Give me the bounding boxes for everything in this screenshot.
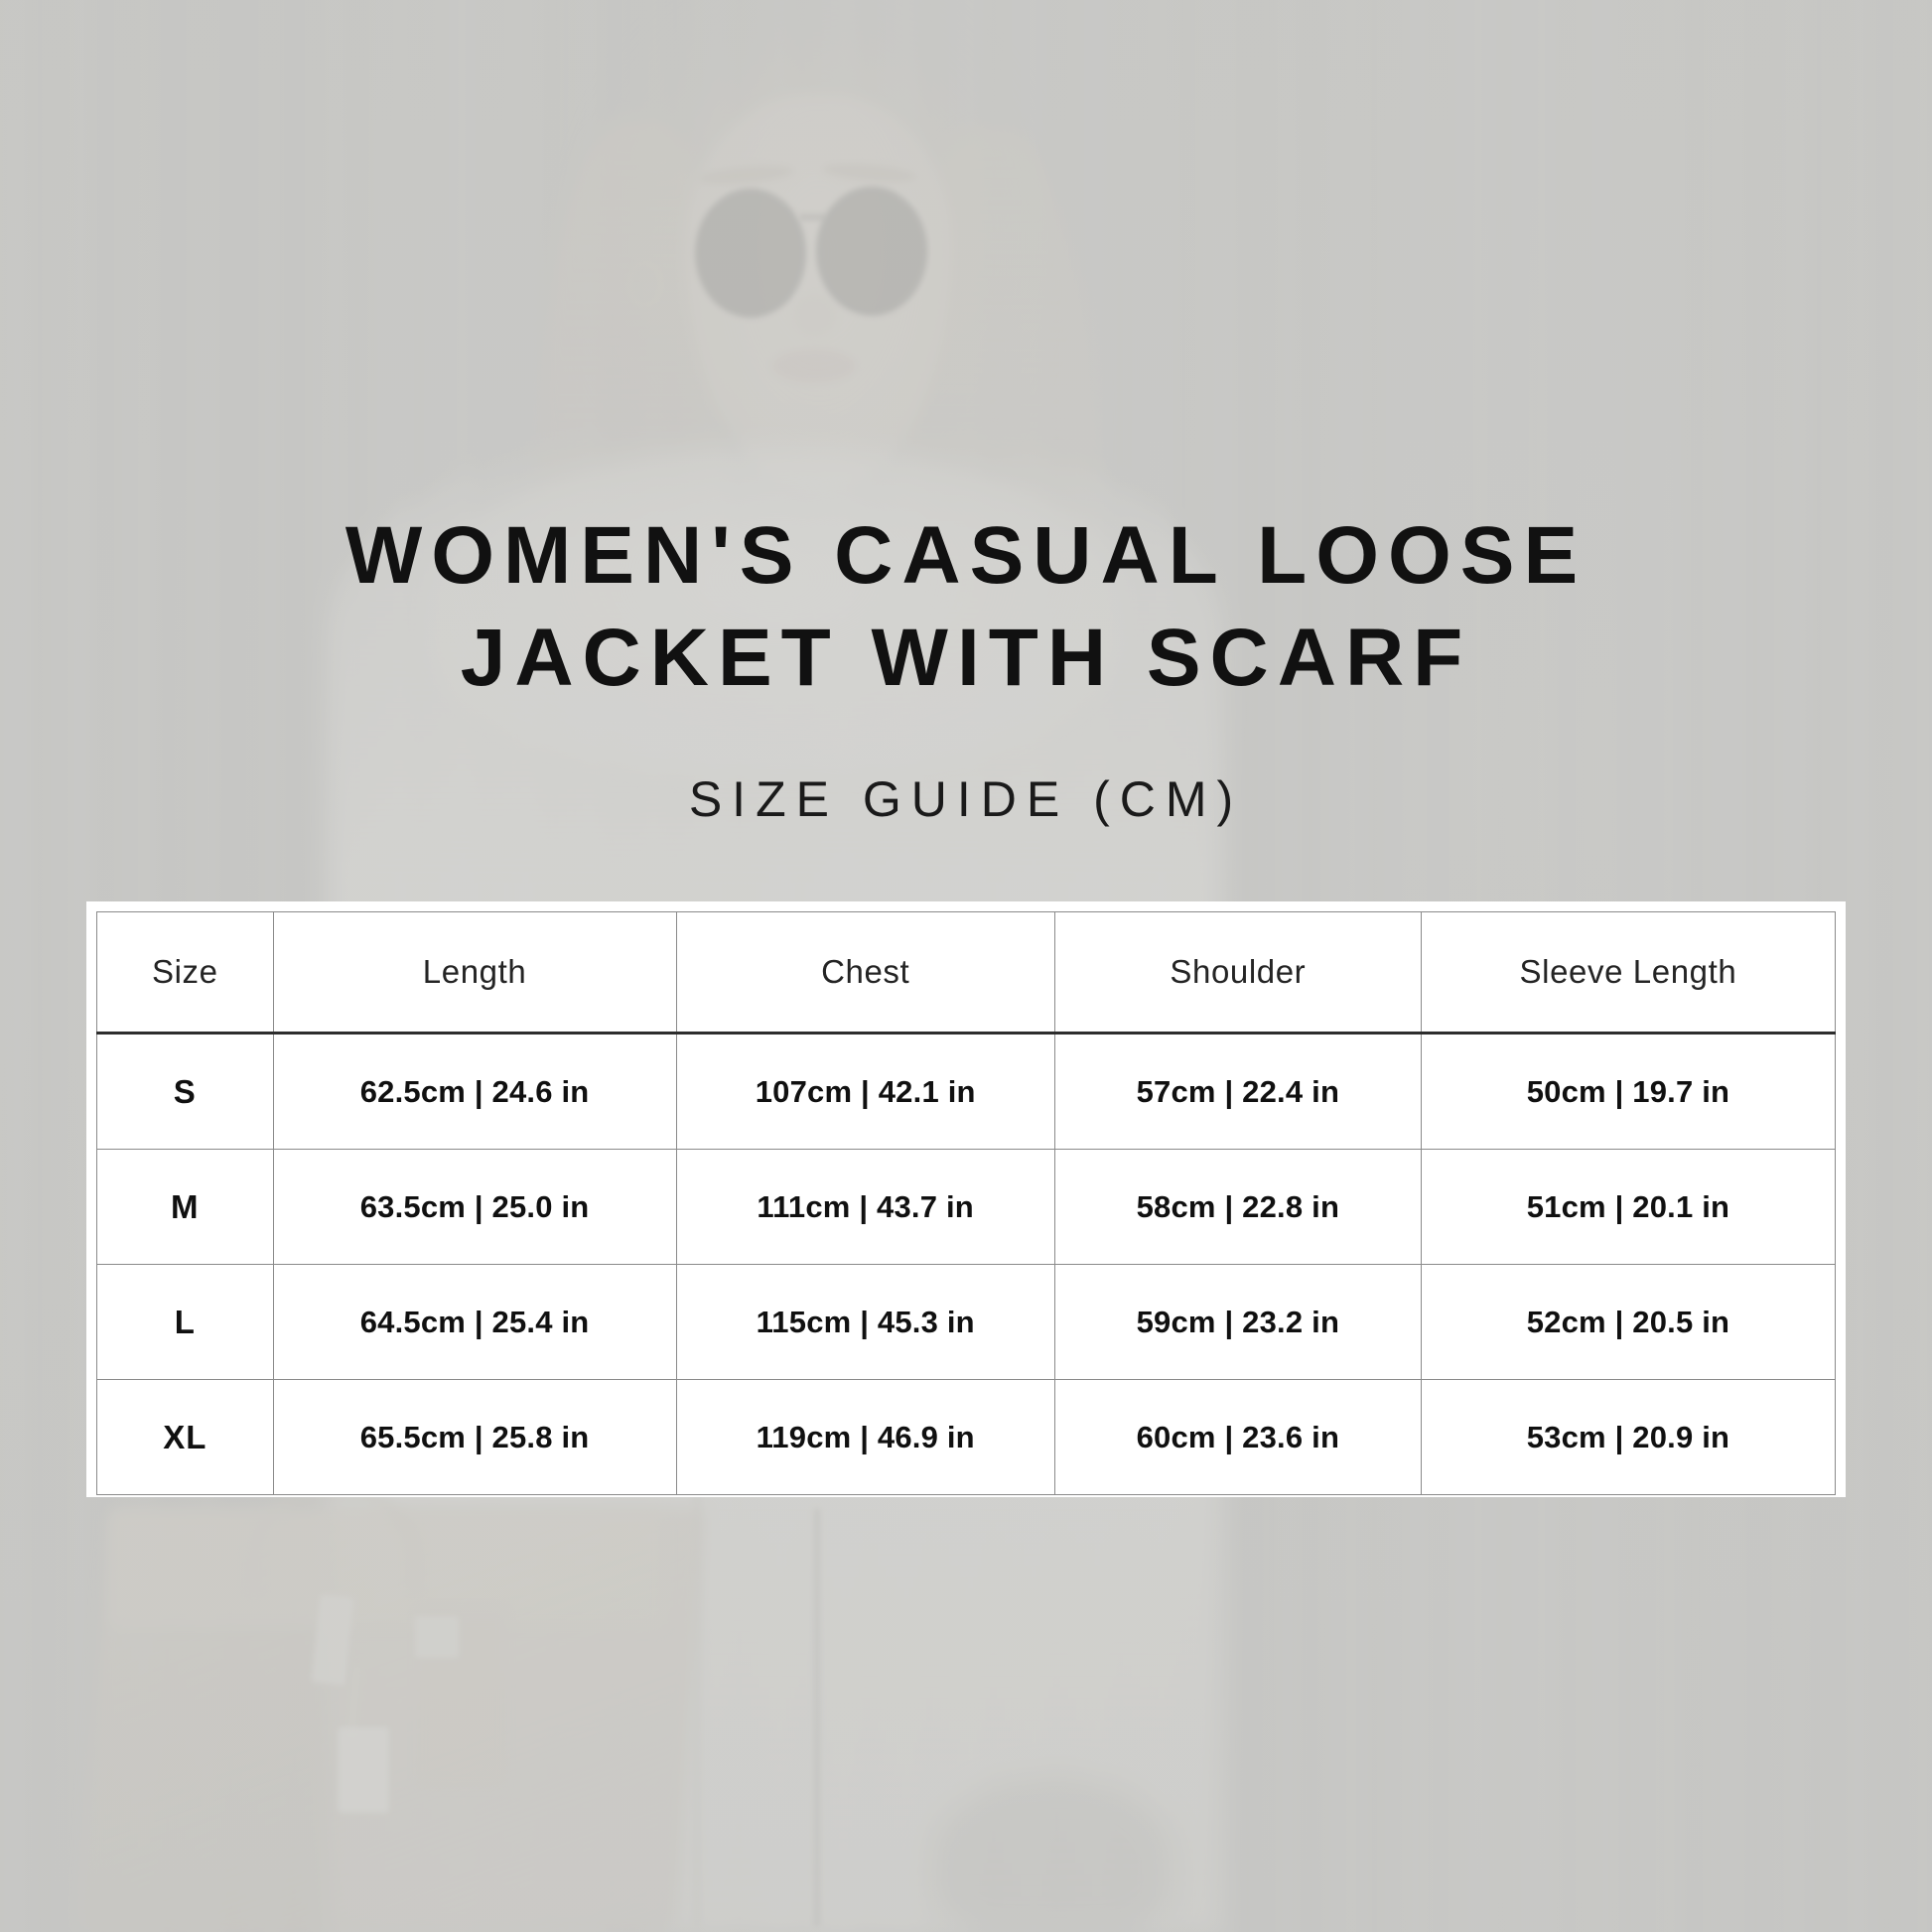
cell-shoulder-l: 59cm | 23.2 in [1054, 1265, 1421, 1380]
title-line-2: JACKET WITH SCARF [0, 607, 1932, 709]
size-table-body: S 62.5cm | 24.6 in 107cm | 42.1 in 57cm … [97, 1034, 1836, 1495]
table-row: M 63.5cm | 25.0 in 111cm | 43.7 in 58cm … [97, 1150, 1836, 1265]
cell-chest-m: 111cm | 43.7 in [676, 1150, 1054, 1265]
cell-chest-xl: 119cm | 46.9 in [676, 1380, 1054, 1495]
cell-chest-s: 107cm | 42.1 in [676, 1034, 1054, 1150]
poster-content: WOMEN'S CASUAL LOOSE JACKET WITH SCARF S… [0, 0, 1932, 1932]
size-table: Size Length Chest Shoulder Sleeve Length… [96, 911, 1836, 1495]
table-row: S 62.5cm | 24.6 in 107cm | 42.1 in 57cm … [97, 1034, 1836, 1150]
cell-chest-l: 115cm | 45.3 in [676, 1265, 1054, 1380]
column-header-sleeve: Sleeve Length [1421, 912, 1835, 1034]
size-table-head: Size Length Chest Shoulder Sleeve Length [97, 912, 1836, 1034]
cell-length-xl: 65.5cm | 25.8 in [273, 1380, 676, 1495]
column-header-length: Length [273, 912, 676, 1034]
column-header-chest: Chest [676, 912, 1054, 1034]
cell-length-m: 63.5cm | 25.0 in [273, 1150, 676, 1265]
cell-length-l: 64.5cm | 25.4 in [273, 1265, 676, 1380]
title-line-1: WOMEN'S CASUAL LOOSE [0, 504, 1932, 607]
cell-shoulder-m: 58cm | 22.8 in [1054, 1150, 1421, 1265]
page-title: WOMEN'S CASUAL LOOSE JACKET WITH SCARF [0, 504, 1932, 709]
cell-sleeve-s: 50cm | 19.7 in [1421, 1034, 1835, 1150]
cell-size-l: L [97, 1265, 274, 1380]
size-guide-poster: WOMEN'S CASUAL LOOSE JACKET WITH SCARF S… [0, 0, 1932, 1932]
cell-size-xl: XL [97, 1380, 274, 1495]
cell-sleeve-m: 51cm | 20.1 in [1421, 1150, 1835, 1265]
size-table-panel: Size Length Chest Shoulder Sleeve Length… [86, 901, 1846, 1497]
cell-sleeve-xl: 53cm | 20.9 in [1421, 1380, 1835, 1495]
table-row: L 64.5cm | 25.4 in 115cm | 45.3 in 59cm … [97, 1265, 1836, 1380]
table-header-row: Size Length Chest Shoulder Sleeve Length [97, 912, 1836, 1034]
column-header-shoulder: Shoulder [1054, 912, 1421, 1034]
cell-size-s: S [97, 1034, 274, 1150]
cell-length-s: 62.5cm | 24.6 in [273, 1034, 676, 1150]
cell-shoulder-s: 57cm | 22.4 in [1054, 1034, 1421, 1150]
column-header-size: Size [97, 912, 274, 1034]
cell-shoulder-xl: 60cm | 23.6 in [1054, 1380, 1421, 1495]
page-subtitle: SIZE GUIDE (CM) [0, 770, 1932, 828]
cell-size-m: M [97, 1150, 274, 1265]
table-row: XL 65.5cm | 25.8 in 119cm | 46.9 in 60cm… [97, 1380, 1836, 1495]
cell-sleeve-l: 52cm | 20.5 in [1421, 1265, 1835, 1380]
